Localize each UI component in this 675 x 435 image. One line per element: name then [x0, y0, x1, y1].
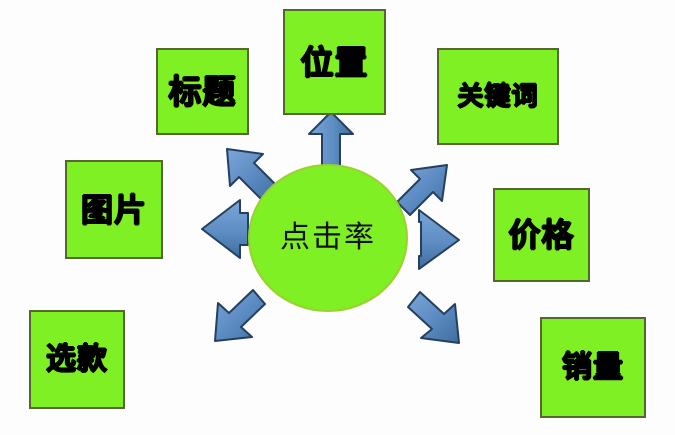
arrow-left	[202, 200, 248, 258]
node-sales-volume[interactable]: 销量	[540, 317, 646, 418]
arrow-down-left	[215, 290, 265, 341]
node-price[interactable]: 价格	[493, 188, 590, 282]
hub-node-click-through-rate[interactable]: 点击率	[248, 164, 408, 312]
node-image[interactable]: 图片	[65, 160, 163, 259]
node-position[interactable]: 位置	[283, 9, 386, 115]
node-sales-volume-label: 销量	[562, 353, 624, 383]
arrow-up	[309, 112, 353, 168]
node-style-selection-label: 选款	[46, 345, 108, 375]
arrow-right	[419, 210, 459, 269]
node-position-label: 位置	[301, 46, 369, 79]
node-price-label: 价格	[508, 219, 574, 251]
arrow-down-right	[408, 292, 459, 343]
hub-label: 点击率	[280, 223, 376, 253]
node-image-label: 图片	[81, 194, 147, 226]
node-keyword[interactable]: 关键词	[437, 48, 559, 145]
node-keyword-label: 关键词	[457, 84, 538, 110]
node-title[interactable]: 标题	[156, 48, 249, 135]
node-title-label: 标题	[169, 75, 237, 108]
arrow-up-right	[397, 165, 447, 215]
node-style-selection[interactable]: 选款	[29, 310, 125, 409]
diagram-canvas: 点击率 位置 标题 关键词 图片 价格 选款 销量	[0, 0, 675, 435]
